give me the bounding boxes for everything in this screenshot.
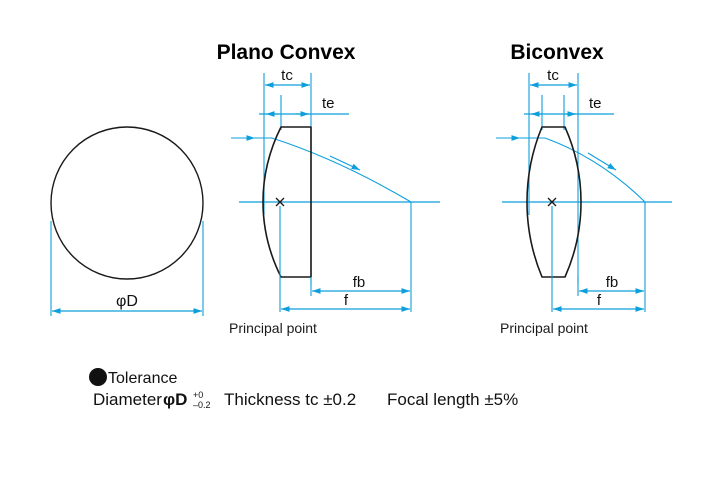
tolerance-block: Tolerance Diameter φD +0 –0.2 Thickness … — [89, 368, 518, 410]
biconvex-f-label: f — [597, 292, 602, 309]
plano-convex-title: Plano Convex — [217, 41, 356, 64]
biconvex-refracted-ray — [545, 138, 645, 202]
aperture-diameter-label: φD — [116, 293, 138, 310]
biconvex-fb-label: fb — [606, 274, 619, 291]
plano-principal-point-caption: Principal point — [229, 320, 317, 336]
plano-fb-label: fb — [353, 274, 366, 291]
plano-refracted-ray-arrow — [330, 156, 360, 170]
biconvex-principal-point-caption: Principal point — [500, 320, 588, 336]
plano-te-label: te — [322, 95, 335, 112]
lens-aperture-circle — [51, 127, 203, 279]
lens-specification-diagram: φD Plano Convex tc te — [0, 0, 715, 485]
plano-convex-group: Plano Convex tc te — [217, 41, 440, 336]
biconvex-te-label: te — [589, 95, 602, 112]
plano-f-label: f — [344, 292, 349, 309]
plano-refracted-ray — [272, 138, 411, 202]
biconvex-group: Biconvex tc te — [496, 41, 672, 336]
tolerance-diameter-lower: –0.2 — [193, 400, 211, 410]
tolerance-heading: Tolerance — [108, 370, 177, 387]
biconvex-title: Biconvex — [510, 41, 604, 64]
tolerance-bullet-icon — [89, 368, 107, 386]
tolerance-diameter-symbol: φD — [163, 390, 187, 409]
tolerance-thickness-label: Thickness tc ±0.2 — [224, 390, 356, 409]
tolerance-focal-label: Focal length ±5% — [387, 390, 518, 409]
biconvex-tc-label: tc — [547, 67, 559, 84]
plano-tc-label: tc — [281, 67, 293, 84]
tolerance-diameter-upper: +0 — [193, 390, 203, 400]
tolerance-diameter-label: Diameter — [93, 390, 162, 409]
aperture-circle-group: φD — [51, 127, 203, 316]
